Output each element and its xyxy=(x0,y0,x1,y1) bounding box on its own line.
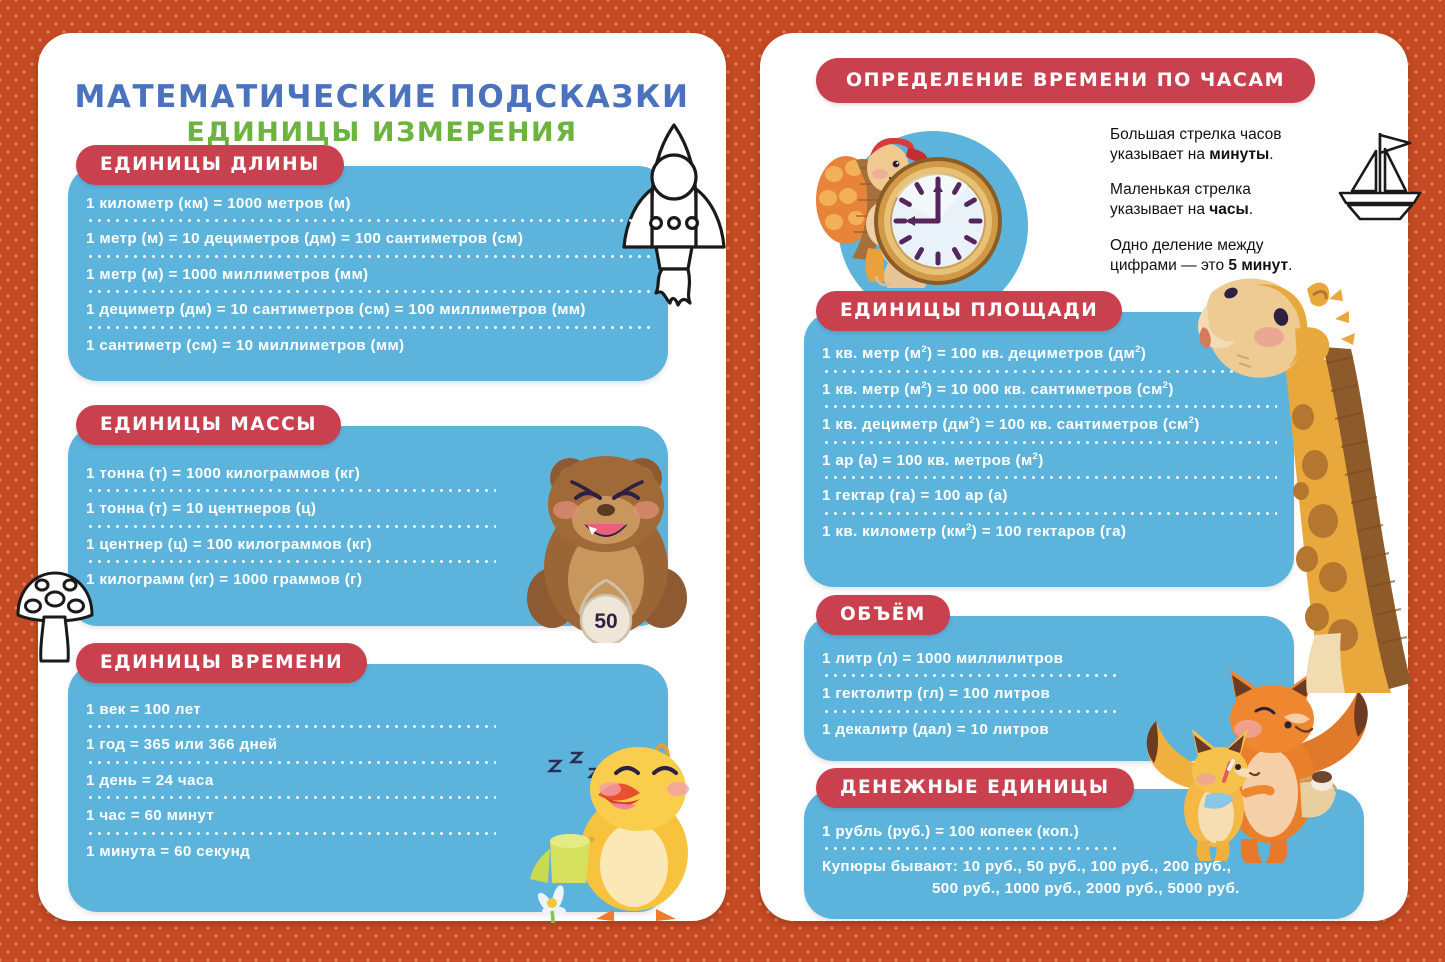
divider xyxy=(86,326,651,329)
divider xyxy=(822,847,1122,850)
badge-area-units: ЕДИНИЦЫ ПЛОЩАДИ xyxy=(816,291,1122,331)
left-panel: МАТЕМАТИЧЕСКИЕ ПОДСКАЗКИ ЕДИНИЦЫ ИЗМЕРЕН… xyxy=(38,33,726,921)
divider xyxy=(822,710,1122,713)
row-volume-3: 1 декалитр (дал) = 10 литров xyxy=(822,721,1122,738)
duck-illustration xyxy=(506,733,706,923)
clock-note-1: Большая стрелка часов указывает на минут… xyxy=(1110,125,1320,165)
row-time-1: 1 век = 100 лет xyxy=(86,701,496,718)
divider xyxy=(86,832,496,835)
time-units-rows: 1 век = 100 лет 1 год = 365 или 366 дней… xyxy=(86,701,496,860)
badge-length-units: ЕДИНИЦЫ ДЛИНЫ xyxy=(76,145,344,185)
page-title-main: МАТЕМАТИЧЕСКИЕ ПОДСКАЗКИ xyxy=(38,79,726,115)
row-length-1: 1 километр (км) = 1000 метров (м) xyxy=(86,195,651,212)
giraffe-illustration xyxy=(1195,275,1415,695)
row-money-note-2: 500 руб., 1000 руб., 2000 руб., 5000 руб… xyxy=(822,880,1240,897)
row-length-2: 1 метр (м) = 10 дециметров (дм) = 100 са… xyxy=(86,230,651,247)
row-volume-2: 1 гектолитр (гл) = 100 литров xyxy=(822,685,1122,702)
row-length-3: 1 метр (м) = 1000 миллиметров (мм) xyxy=(86,266,651,283)
poster: МАТЕМАТИЧЕСКИЕ ПОДСКАЗКИ ЕДИНИЦЫ ИЗМЕРЕН… xyxy=(0,0,1445,962)
mass-units-rows: 1 тонна (т) = 1000 килограммов (кг) 1 то… xyxy=(86,465,496,589)
divider xyxy=(86,525,496,528)
clock-note-2: Маленькая стрелка указывает на часы. xyxy=(1110,180,1320,220)
row-mass-4: 1 килограмм (кг) = 1000 граммов (г) xyxy=(86,571,496,588)
row-length-4: 1 дециметр (дм) = 10 сантиметров (см) = … xyxy=(86,301,651,318)
row-time-5: 1 минута = 60 секунд xyxy=(86,843,496,860)
badge-time-units: ЕДИНИЦЫ ВРЕМЕНИ xyxy=(76,643,367,683)
clock-note-3: Одно деление между цифрами — это 5 минут… xyxy=(1110,236,1320,276)
row-mass-1: 1 тонна (т) = 1000 килограммов (кг) xyxy=(86,465,496,482)
clock-illustration xyxy=(872,155,1004,287)
divider xyxy=(86,796,496,799)
badge-mass-units: ЕДИНИЦЫ МАССЫ xyxy=(76,405,341,445)
row-mass-3: 1 центнер (ц) = 100 килограммов (кг) xyxy=(86,536,496,553)
divider xyxy=(86,255,651,258)
row-time-4: 1 час = 60 минут xyxy=(86,807,496,824)
mushroom-icon xyxy=(14,565,96,665)
sailboat-icon xyxy=(1332,125,1428,225)
row-volume-1: 1 литр (л) = 1000 миллилитров xyxy=(822,650,1122,667)
divider xyxy=(86,761,496,764)
badge-money-units: ДЕНЕЖНЫЕ ЕДИНИЦЫ xyxy=(816,768,1134,808)
divider xyxy=(86,725,496,728)
row-time-2: 1 год = 365 или 366 дней xyxy=(86,736,496,753)
divider xyxy=(822,674,1122,677)
bear-illustration: 50 xyxy=(522,448,692,643)
divider xyxy=(86,290,651,293)
row-length-5: 1 сантиметр (см) = 10 миллиметров (мм) xyxy=(86,337,651,354)
badge-volume-units: ОБЪЁМ xyxy=(816,595,950,635)
divider xyxy=(86,219,651,222)
divider xyxy=(86,560,496,563)
volume-units-rows: 1 литр (л) = 1000 миллилитров 1 гектолит… xyxy=(822,650,1122,738)
length-units-rows: 1 километр (км) = 1000 метров (м) 1 метр… xyxy=(86,195,651,354)
row-mass-2: 1 тонна (т) = 10 центнеров (ц) xyxy=(86,500,496,517)
clock-notes: Большая стрелка часов указывает на минут… xyxy=(1110,125,1320,291)
bear-weight-label: 50 xyxy=(594,610,617,633)
divider xyxy=(86,489,496,492)
badge-telling-time: ОПРЕДЕЛЕНИЕ ВРЕМЕНИ ПО ЧАСАМ xyxy=(816,58,1315,103)
row-time-3: 1 день = 24 часа xyxy=(86,772,496,789)
